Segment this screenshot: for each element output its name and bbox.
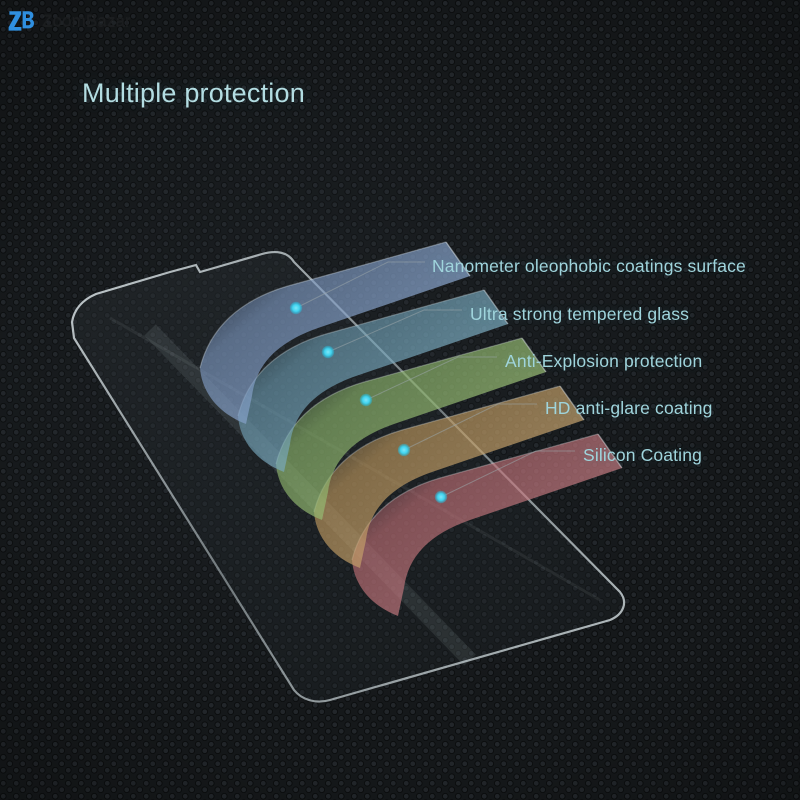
callout-dot-4 (398, 444, 410, 456)
page-title: Multiple protection (82, 78, 305, 109)
callout-dot-5 (435, 491, 447, 503)
callout-label-oleophobic: Nanometer oleophobic coatings surface (432, 256, 746, 277)
callout-label-hd-anti-glare: HD anti-glare coating (545, 398, 713, 419)
brand-name: ZoomBazar (42, 11, 131, 31)
zb-monogram-icon (6, 6, 36, 36)
callout-dot-1 (290, 302, 302, 314)
product-infographic: ZoomBazar Multiple protection (0, 0, 800, 800)
brand-logo: ZoomBazar (6, 6, 131, 36)
callout-label-tempered-glass: Ultra strong tempered glass (470, 304, 689, 325)
callout-label-silicon-coating: Silicon Coating (583, 445, 702, 466)
callout-dot-3 (360, 394, 372, 406)
callout-dot-2 (322, 346, 334, 358)
callout-label-anti-explosion: Anti-Explosion protection (505, 351, 702, 372)
